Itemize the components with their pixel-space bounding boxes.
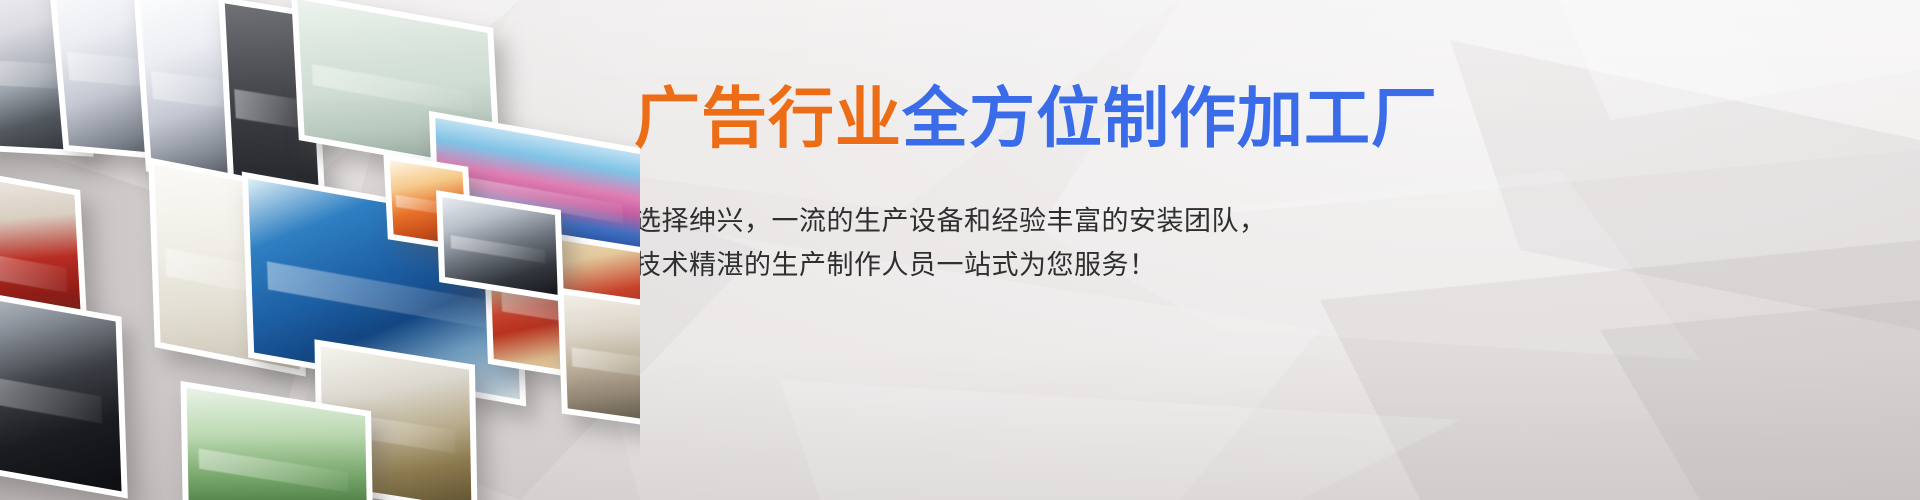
card-shelf-goods-photo bbox=[564, 294, 640, 423]
card-night-car-photo bbox=[442, 197, 557, 295]
subcopy-line-2: 技术精湛的生产制作人员一站式为您服务！ bbox=[634, 244, 1774, 288]
promo-banner: 广告行业全方位制作加工厂 选择绅兴，一流的生产设备和经验丰富的安装团队， 技术精… bbox=[0, 0, 1920, 500]
page-title: 广告行业全方位制作加工厂 bbox=[634, 86, 1774, 152]
card-shelf-goods bbox=[557, 288, 640, 431]
headline-part-blue: 全方位制作加工厂 bbox=[902, 80, 1438, 157]
banner-subcopy: 选择绅兴，一流的生产设备和经验丰富的安装团队， 技术精湛的生产制作人员一站式为您… bbox=[634, 200, 1774, 287]
advertising-signage-photo-collage bbox=[0, 0, 640, 500]
card-iphone-display bbox=[0, 284, 128, 499]
banner-copy: 广告行业全方位制作加工厂 选择绅兴，一流的生产设备和经验丰富的安装团队， 技术精… bbox=[634, 86, 1774, 287]
subcopy-line-1: 选择绅兴，一流的生产设备和经验丰富的安装团队， bbox=[634, 200, 1774, 244]
headline-part-orange: 广告行业 bbox=[634, 80, 902, 157]
card-iphone-display-photo bbox=[0, 291, 122, 492]
